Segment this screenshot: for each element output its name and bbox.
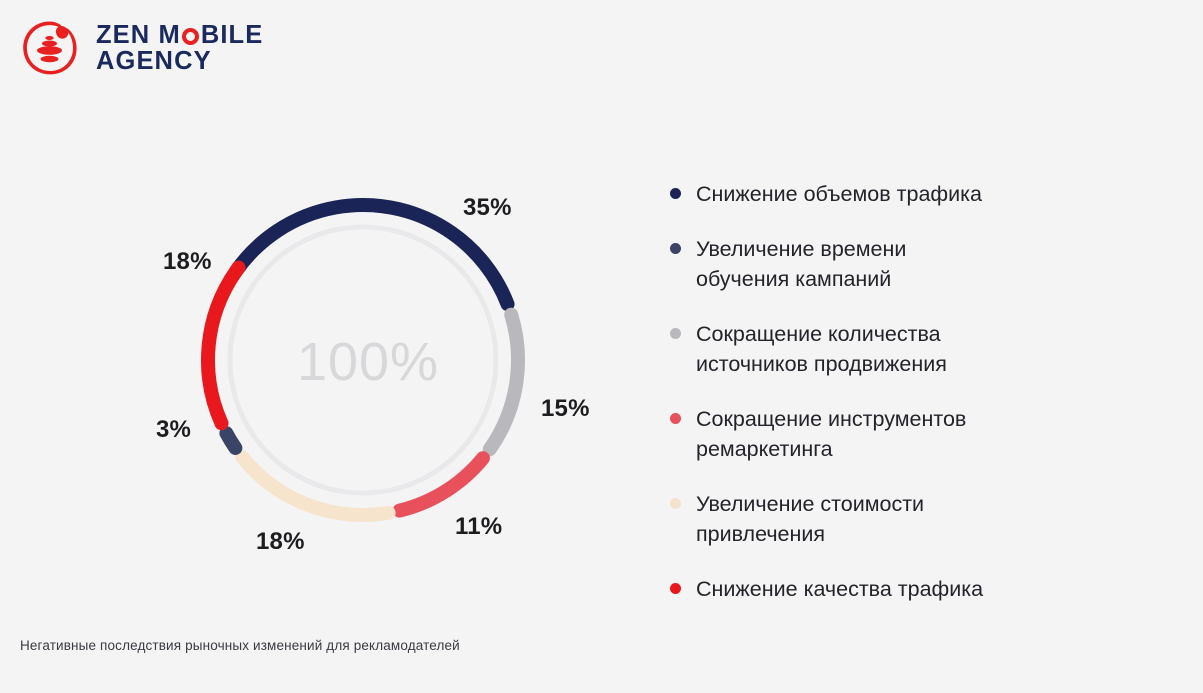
- legend-item-promotion-sources-reduction[interactable]: Сокращение количества источников продвиж…: [670, 320, 1170, 379]
- legend-bullet-icon: [670, 328, 681, 339]
- legend-item-traffic-quality-decline[interactable]: Снижение качества трафика: [670, 575, 1170, 604]
- brand-zen-mo: ZEN M: [96, 22, 181, 48]
- legend-label: Сокращение количества источников продвиж…: [696, 320, 1036, 379]
- legend-item-remarketing-tools-reduction[interactable]: Сокращение инструментов ремаркетинга: [670, 405, 1170, 464]
- legend-label: Сокращение инструментов ремаркетинга: [696, 405, 1041, 464]
- brand-wordmark: ZEN M BILE AGENCY: [96, 22, 263, 74]
- donut-chart: 100% 35% 15% 11% 18% 3% 18%: [180, 168, 560, 556]
- legend-label: Увеличение стоимости привлечения: [696, 490, 996, 549]
- brand-line-2: AGENCY: [96, 48, 263, 74]
- brand-red-o-icon: [182, 28, 199, 45]
- value-label-campaign-learning-time-increase: 3%: [156, 416, 191, 444]
- value-label-traffic-quality-decline: 11%: [455, 513, 502, 541]
- legend-bullet-icon: [670, 413, 681, 424]
- legend-bullet-icon: [670, 188, 681, 199]
- value-label-acquisition-cost-increase: 18%: [256, 528, 305, 556]
- legend-bullet-icon: [670, 243, 681, 254]
- legend-label: Снижение качества трафика: [696, 575, 983, 604]
- donut-track-ring: [230, 227, 496, 493]
- value-label-promotion-sources-reduction: 15%: [541, 395, 590, 423]
- slide-caption: Негативные последствия рыночных изменени…: [20, 638, 460, 653]
- legend-label: Снижение объемов трафика: [696, 180, 982, 209]
- value-label-traffic-volume-decline: 35%: [463, 194, 512, 222]
- value-label-remarketing-tools-reduction: 18%: [163, 248, 212, 276]
- legend-bullet-icon: [670, 498, 681, 509]
- brand-bile: BILE: [201, 22, 264, 48]
- brand-line-1: ZEN M BILE: [96, 22, 263, 48]
- chart-legend: Снижение объемов трафика Увеличение врем…: [670, 180, 1170, 631]
- brand-logo: ZEN M BILE AGENCY: [18, 16, 263, 80]
- legend-item-traffic-volume-decline[interactable]: Снижение объемов трафика: [670, 180, 1170, 209]
- legend-item-campaign-learning-time-increase[interactable]: Увеличение времени обучения кампаний: [670, 235, 1170, 294]
- legend-label: Увеличение времени обучения кампаний: [696, 235, 986, 294]
- donut-chart-svg: [180, 168, 560, 556]
- enso-circle-stones-logo-icon: [18, 16, 82, 80]
- legend-item-acquisition-cost-increase[interactable]: Увеличение стоимости привлечения: [670, 490, 1170, 549]
- slide-canvas: ZEN M BILE AGENCY 100% 35% 15% 11%: [0, 0, 1203, 693]
- legend-bullet-icon: [670, 583, 681, 594]
